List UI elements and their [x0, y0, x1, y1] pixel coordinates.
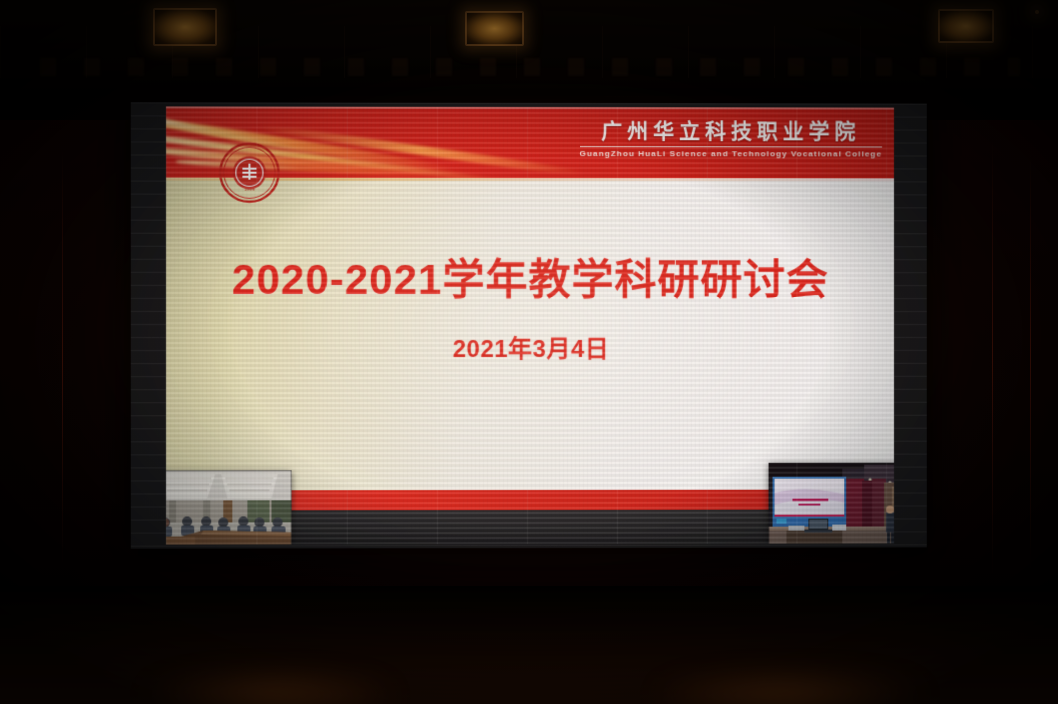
college-name-en: GuangZhou HuaLi Science and Technology V…: [580, 150, 882, 158]
led-video-wall[interactable]: 广州华立科技职业学院 GuangZhou HuaLi Science and T…: [131, 102, 927, 548]
presentation-slide: 广州华立科技职业学院 GuangZhou HuaLi Science and T…: [166, 106, 894, 544]
photo-auditorium-stage: [769, 463, 894, 545]
slide-date: 2021年3月4日: [166, 329, 894, 364]
college-name-divider: [580, 146, 882, 147]
wall-seam: [992, 140, 993, 580]
svg-text:1999: 1999: [244, 187, 255, 192]
page-title: 2020-2021学年教学科研研讨会: [166, 257, 894, 303]
header-top-line: [166, 106, 894, 109]
auditorium-scene: 广州华立科技职业学院 GuangZhou HuaLi Science and T…: [0, 0, 1058, 704]
college-name-cn: 广州华立科技职业学院: [580, 121, 882, 142]
photo-conference-room: [166, 470, 292, 544]
college-seal-emblem-icon: 1999: [218, 142, 280, 204]
ceiling-light-icon: [465, 11, 524, 46]
ceiling: [0, 0, 1058, 96]
slide-title-block: 2020-2021学年教学科研研讨会 2021年3月4日: [166, 257, 894, 364]
ceiling-light-row: [40, 58, 1020, 76]
wall-seam: [1030, 150, 1031, 570]
ceiling-light-icon: [153, 8, 217, 46]
wall-seam: [62, 150, 63, 570]
wall-panel-right: [928, 120, 1058, 590]
ceiling-light-icon: [1035, 10, 1039, 14]
stage-floor: [0, 586, 1058, 704]
college-name-block: 广州华立科技职业学院 GuangZhou HuaLi Science and T…: [580, 121, 882, 159]
wall-panel-left: [0, 120, 138, 590]
ceiling-light-icon: [938, 9, 994, 43]
